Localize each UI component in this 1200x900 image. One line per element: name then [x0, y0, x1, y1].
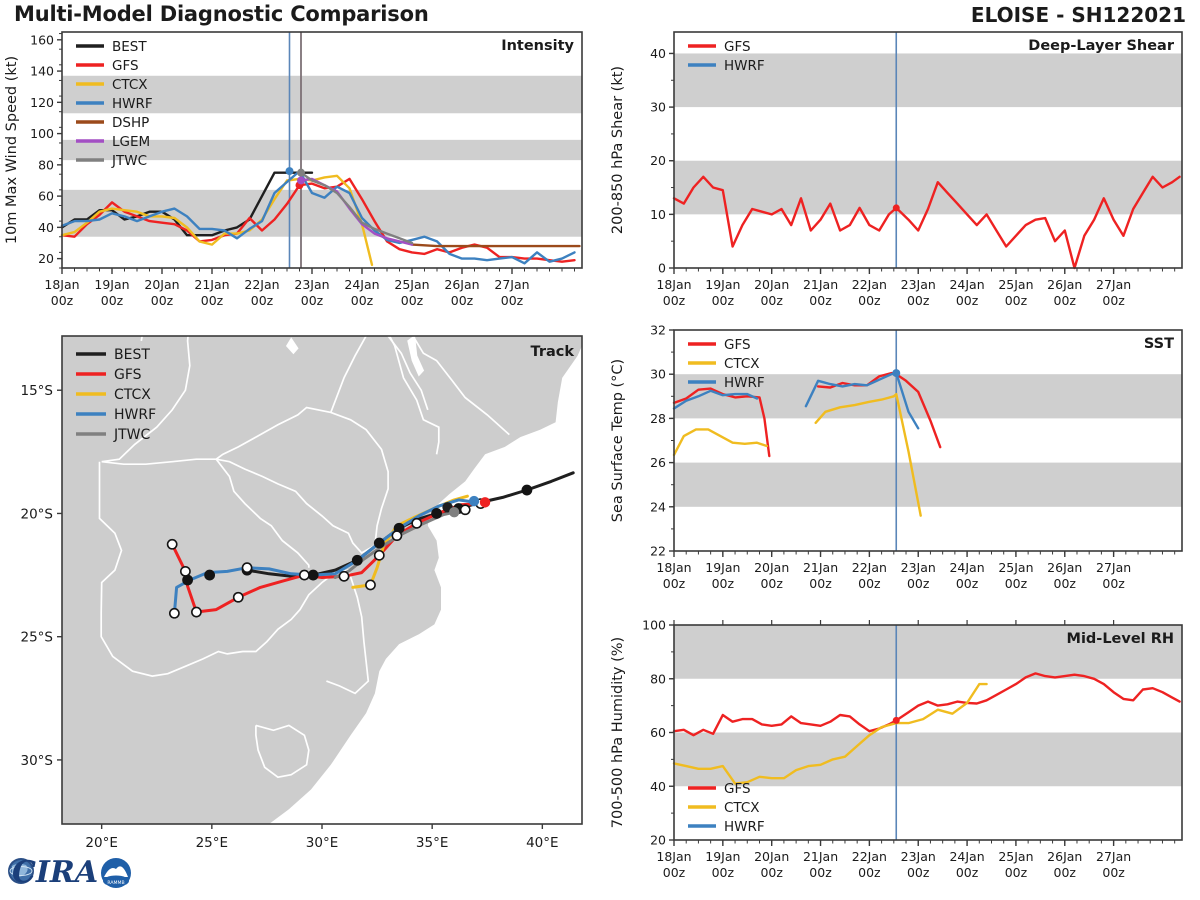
track-marker-best	[522, 485, 531, 494]
track-marker-best	[375, 538, 384, 547]
init-marker-hwrf	[892, 369, 900, 377]
y-tick-label: 60	[38, 189, 54, 204]
legend-label-dshp: DSHP	[112, 115, 149, 131]
x-tick-label-hour: 00z	[351, 293, 374, 308]
map-lon-label: 30°E	[306, 835, 338, 851]
legend-label-ctcx: CTCX	[114, 387, 151, 403]
x-tick-label-hour: 00z	[251, 293, 274, 308]
track-marker-gfs	[392, 531, 401, 540]
track-marker-ctcx	[366, 580, 375, 589]
x-tick-label-hour: 00z	[956, 865, 979, 880]
y-tick-label: 24	[650, 499, 666, 514]
legend-label-hwrf: HWRF	[112, 96, 153, 112]
x-tick-label-hour: 00z	[760, 293, 783, 308]
x-tick-label-day: 27Jan	[494, 277, 529, 292]
x-tick-label-hour: 00z	[1102, 865, 1125, 880]
y-tick-label: 26	[650, 455, 666, 470]
legend-label-best: BEST	[114, 347, 150, 363]
x-tick-label-day: 21Jan	[803, 560, 838, 575]
x-tick-label-hour: 00z	[907, 293, 930, 308]
x-tick-label-day: 23Jan	[901, 277, 936, 292]
legend-label-ctcx: CTCX	[724, 356, 760, 372]
y-tick-label: 60	[650, 725, 666, 740]
x-tick-label-day: 19Jan	[705, 560, 740, 575]
x-tick-label-hour: 00z	[451, 293, 474, 308]
x-tick-label-hour: 00z	[956, 576, 979, 591]
cira-wordmark: CIRA	[12, 855, 98, 890]
x-tick-label-hour: 00z	[858, 576, 881, 591]
x-tick-label-hour: 00z	[1005, 865, 1028, 880]
x-tick-label-day: 23Jan	[294, 277, 329, 292]
y-tick-label: 10	[650, 207, 666, 222]
x-tick-label-day: 18Jan	[656, 560, 691, 575]
x-tick-label-day: 21Jan	[803, 849, 838, 864]
init-marker-gfs	[893, 717, 900, 724]
track-marker-gfs	[181, 567, 190, 576]
track-marker-gfs	[168, 540, 177, 549]
x-tick-label-hour: 00z	[809, 293, 832, 308]
x-tick-label-hour: 00z	[101, 293, 124, 308]
x-tick-label-hour: 00z	[51, 293, 74, 308]
init-marker-lgem	[297, 176, 305, 184]
panel-title: Mid-Level RH	[1067, 631, 1174, 647]
track-marker-best	[432, 509, 441, 518]
x-tick-label-day: 20Jan	[754, 849, 789, 864]
x-tick-label-hour: 00z	[663, 576, 686, 591]
y-tick-label: 32	[650, 324, 666, 338]
track-marker-hwrf	[170, 609, 179, 618]
track-marker-best	[309, 570, 318, 579]
x-tick-label-hour: 00z	[1102, 576, 1125, 591]
panel-rh: 2040608010018Jan00z19Jan00z20Jan00z21Jan…	[600, 609, 1200, 900]
init-marker-gfs	[893, 204, 900, 211]
legend-label-hwrf: HWRF	[724, 819, 765, 835]
x-tick-label-day: 19Jan	[94, 277, 129, 292]
x-tick-label-day: 25Jan	[394, 277, 429, 292]
x-tick-label-hour: 00z	[1054, 865, 1077, 880]
current-position-gfs	[480, 497, 490, 507]
track-marker-gfs	[339, 572, 348, 581]
y-tick-label: 40	[38, 220, 54, 235]
x-tick-label-day: 24Jan	[949, 849, 984, 864]
panel-title: Track	[531, 344, 575, 360]
x-tick-label-hour: 00z	[809, 576, 832, 591]
map-lon-label: 25°E	[196, 835, 228, 851]
y-tick-label: 100	[642, 618, 666, 633]
page-title: Multi-Model Diagnostic Comparison	[14, 2, 429, 26]
x-tick-label-day: 25Jan	[998, 560, 1033, 575]
track-marker-gfs	[300, 570, 309, 579]
x-tick-label-day: 19Jan	[705, 849, 740, 864]
map-lat-label: 25°S	[21, 630, 54, 646]
x-tick-label-hour: 00z	[301, 293, 324, 308]
legend-label-gfs: GFS	[724, 337, 751, 353]
x-tick-label-day: 24Jan	[344, 277, 379, 292]
panel-intensity: 2040608010012014016018Jan00z19Jan00z20Ja…	[0, 24, 600, 324]
x-tick-label-day: 27Jan	[1096, 277, 1131, 292]
y-tick-label: 80	[38, 157, 54, 172]
cira-logo: CIRA RAMMB	[4, 848, 144, 896]
rammb-label: RAMMB	[107, 880, 124, 886]
x-tick-label-day: 23Jan	[901, 849, 936, 864]
x-tick-label-hour: 00z	[858, 865, 881, 880]
y-tick-label: 28	[650, 411, 666, 426]
y-tick-label: 30	[650, 367, 666, 382]
legend-label-gfs: GFS	[114, 367, 142, 383]
legend-label-jtwc: JTWC	[111, 153, 147, 169]
x-tick-label-day: 24Jan	[949, 560, 984, 575]
y-tick-label: 0	[658, 261, 666, 276]
x-tick-label-day: 20Jan	[144, 277, 179, 292]
panel-track: 15°S20°S25°S30°S20°E25°E30°E35°E40°ETrac…	[0, 326, 600, 886]
x-tick-label-hour: 00z	[712, 576, 735, 591]
x-tick-label-day: 22Jan	[852, 849, 887, 864]
x-tick-label-day: 26Jan	[1047, 849, 1082, 864]
x-tick-label-day: 26Jan	[1047, 277, 1082, 292]
x-tick-label-day: 22Jan	[852, 560, 887, 575]
x-tick-label-hour: 00z	[1005, 293, 1028, 308]
panel-title: Intensity	[501, 38, 574, 54]
x-tick-label-hour: 00z	[907, 865, 930, 880]
panel-shear: 01020304018Jan00z19Jan00z20Jan00z21Jan00…	[600, 24, 1200, 324]
x-tick-label-day: 27Jan	[1096, 560, 1131, 575]
legend-label-lgem: LGEM	[112, 134, 150, 150]
x-tick-label-hour: 00z	[151, 293, 174, 308]
x-tick-label-day: 24Jan	[949, 277, 984, 292]
init-marker-hwrf	[286, 167, 294, 175]
legend-label-gfs: GFS	[724, 781, 751, 797]
legend-label-ctcx: CTCX	[724, 800, 760, 816]
x-tick-label-hour: 00z	[907, 576, 930, 591]
y-tick-label: 120	[30, 95, 54, 110]
x-tick-label-hour: 00z	[760, 576, 783, 591]
init-marker-jtwc	[297, 169, 305, 177]
x-tick-label-day: 21Jan	[803, 277, 838, 292]
legend-label-best: BEST	[112, 39, 147, 55]
shaded-band	[674, 733, 1182, 787]
x-tick-label-day: 19Jan	[705, 277, 740, 292]
track-marker-gfs	[412, 519, 421, 528]
y-tick-label: 40	[650, 779, 666, 794]
x-tick-label-hour: 00z	[201, 293, 224, 308]
track-marker-hwrf	[242, 563, 251, 572]
track-marker-best	[183, 575, 192, 584]
x-tick-label-day: 20Jan	[754, 277, 789, 292]
legend-label-hwrf: HWRF	[724, 58, 765, 74]
rammb-seal-icon: RAMMB	[101, 858, 131, 888]
panel-title: SST	[1144, 336, 1174, 352]
y-axis-label: Sea Surface Temp (°C)	[610, 359, 626, 522]
y-tick-label: 100	[30, 126, 54, 141]
x-tick-label-day: 26Jan	[1047, 560, 1082, 575]
x-tick-label-hour: 00z	[1005, 576, 1028, 591]
x-tick-label-hour: 00z	[809, 865, 832, 880]
y-axis-label: 700-500 hPa Humidity (%)	[610, 637, 626, 828]
track-marker-gfs	[375, 551, 384, 560]
legend-label-hwrf: HWRF	[114, 407, 156, 423]
y-tick-label: 20	[38, 251, 54, 266]
panel-title: Deep-Layer Shear	[1028, 38, 1175, 54]
x-tick-label-hour: 00z	[501, 293, 524, 308]
track-marker-jtwc	[461, 505, 470, 514]
x-tick-label-day: 18Jan	[656, 277, 691, 292]
x-tick-label-hour: 00z	[712, 865, 735, 880]
x-tick-label-day: 21Jan	[194, 277, 229, 292]
legend-label-gfs: GFS	[112, 58, 139, 74]
y-axis-label: 10m Max Wind Speed (kt)	[4, 56, 20, 244]
track-marker-best	[353, 556, 362, 565]
track-marker-best	[205, 570, 214, 579]
x-tick-label-day: 22Jan	[852, 277, 887, 292]
y-tick-label: 40	[650, 46, 666, 61]
y-tick-label: 140	[30, 64, 54, 79]
y-axis-label: 200-850 hPa Shear (kt)	[610, 66, 626, 234]
y-tick-label: 160	[30, 32, 54, 47]
x-tick-label-day: 26Jan	[444, 277, 479, 292]
legend-label-gfs: GFS	[724, 39, 751, 55]
current-position-hwrf	[469, 496, 479, 506]
x-tick-label-day: 25Jan	[998, 277, 1033, 292]
y-tick-label: 20	[650, 153, 666, 168]
map-lat-label: 20°S	[21, 506, 54, 522]
x-tick-label-day: 27Jan	[1096, 849, 1131, 864]
x-tick-label-hour: 00z	[663, 865, 686, 880]
current-position-jtwc	[449, 507, 459, 517]
x-tick-label-hour: 00z	[858, 293, 881, 308]
track-marker-gfs	[192, 607, 201, 616]
x-tick-label-hour: 00z	[1054, 293, 1077, 308]
y-tick-label: 30	[650, 100, 666, 115]
x-tick-label-hour: 00z	[401, 293, 424, 308]
x-tick-label-day: 18Jan	[656, 849, 691, 864]
x-tick-label-hour: 00z	[760, 865, 783, 880]
y-tick-label: 80	[650, 671, 666, 686]
map-lon-label: 35°E	[416, 835, 448, 851]
x-tick-label-hour: 00z	[956, 293, 979, 308]
x-tick-label-hour: 00z	[1054, 576, 1077, 591]
map-lon-label: 40°E	[526, 835, 558, 851]
x-tick-label-day: 23Jan	[901, 560, 936, 575]
x-tick-label-hour: 00z	[663, 293, 686, 308]
y-tick-label: 22	[650, 544, 666, 559]
y-tick-label: 20	[650, 833, 666, 848]
legend-label-jtwc: JTWC	[113, 427, 151, 443]
map-lat-label: 30°S	[21, 753, 54, 769]
x-tick-label-day: 25Jan	[998, 849, 1033, 864]
legend-label-ctcx: CTCX	[112, 77, 148, 93]
map-lat-label: 15°S	[21, 383, 54, 399]
x-tick-label-hour: 00z	[1102, 293, 1125, 308]
track-marker-gfs	[234, 593, 243, 602]
panel-sst: 22242628303218Jan00z19Jan00z20Jan00z21Ja…	[600, 324, 1200, 609]
x-tick-label-day: 18Jan	[44, 277, 79, 292]
legend-label-hwrf: HWRF	[724, 375, 765, 391]
x-tick-label-day: 20Jan	[754, 560, 789, 575]
x-tick-label-hour: 00z	[712, 293, 735, 308]
x-tick-label-day: 22Jan	[244, 277, 279, 292]
shaded-band	[674, 463, 1182, 507]
